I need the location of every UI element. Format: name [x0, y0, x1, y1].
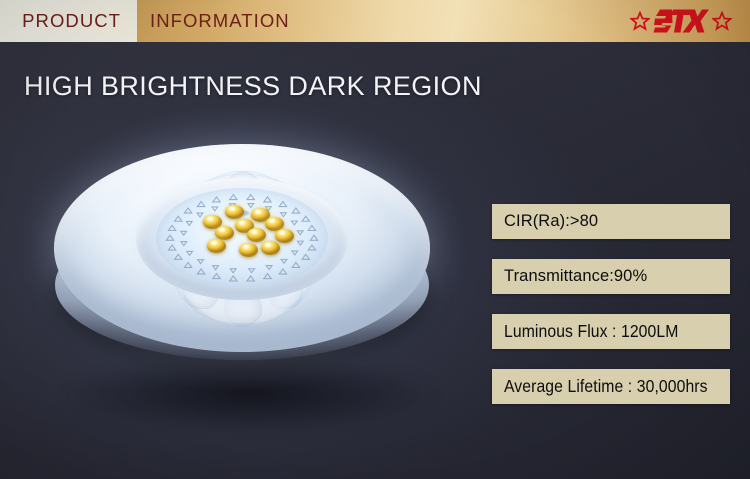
spec-item-average-lifetime[interactable]: Average Lifetime : 30,000hrs [492, 369, 730, 404]
ring-triangle [175, 254, 182, 259]
ring-triangle [308, 245, 315, 250]
stx-wordmark [652, 8, 710, 34]
spec-label: Transmittance:90% [504, 267, 647, 286]
ring-triangle [197, 269, 204, 274]
spec-label: Average Lifetime : 30,000hrs [504, 376, 708, 397]
led-bead [239, 243, 258, 257]
led-bead [247, 228, 266, 242]
ring-triangle [197, 213, 203, 217]
spec-item-luminous-flux[interactable]: Luminous Flux : 1200LM [492, 314, 730, 349]
led-bead [275, 229, 294, 243]
ring-triangle [230, 195, 237, 200]
product-information-slide: PRODUCT INFORMATION [0, 0, 750, 479]
header-left-panel: PRODUCT [0, 0, 137, 42]
header-kicker: PRODUCT [22, 10, 121, 32]
ring-triangle [212, 207, 218, 211]
ring-triangle [264, 274, 271, 279]
ring-triangle [184, 262, 191, 267]
lamp-led-disc [156, 188, 328, 288]
ring-triangle [168, 225, 175, 230]
ring-triangle [187, 251, 193, 255]
spec-label: Luminous Flux : 1200LM [504, 321, 678, 342]
ring-triangle [186, 221, 192, 225]
page-title: HIGH BRIGHTNESS DARK REGION [24, 71, 482, 102]
header-bar: PRODUCT INFORMATION [0, 0, 750, 42]
ring-triangle [302, 216, 309, 221]
ring-triangle [247, 276, 254, 281]
ring-triangle [198, 260, 204, 264]
header-right-panel: INFORMATION [137, 0, 750, 42]
spec-item-cri[interactable]: CIR(Ra):>80 [492, 204, 730, 239]
ring-triangle [213, 266, 219, 270]
decorative-triangle-ring [156, 188, 328, 288]
specification-list: CIR(Ra):>80 Transmittance:90% Luminous F… [492, 204, 730, 404]
ring-triangle [230, 276, 237, 281]
ring-triangle [181, 231, 187, 235]
product-image [40, 118, 450, 418]
ring-triangle [175, 216, 182, 221]
ring-triangle [181, 242, 187, 246]
ring-triangle [166, 235, 173, 240]
ring-triangle [281, 259, 287, 263]
product-shadow [60, 354, 440, 434]
ring-triangle [281, 213, 287, 217]
ring-triangle [213, 197, 220, 202]
ring-triangle [297, 231, 303, 235]
ring-triangle [292, 251, 298, 255]
ring-triangle [168, 245, 175, 250]
ring-triangle [266, 265, 272, 269]
spec-label: CIR(Ra):>80 [504, 212, 598, 231]
ring-triangle [230, 269, 236, 273]
star-outline-icon [630, 11, 650, 31]
ring-triangle [292, 208, 299, 213]
star-outline-icon [712, 11, 732, 31]
ring-triangle [297, 241, 303, 245]
ring-triangle [213, 274, 220, 279]
stx-logo[interactable] [630, 6, 732, 36]
ring-triangle [310, 235, 317, 240]
header-title: INFORMATION [150, 10, 290, 32]
ring-triangle [197, 201, 204, 206]
ring-triangle [248, 204, 254, 208]
led-bead [207, 239, 226, 253]
ring-triangle [249, 269, 255, 273]
ring-triangle [291, 221, 297, 225]
ring-triangle [247, 195, 254, 200]
led-bead [215, 226, 234, 240]
ring-triangle [279, 201, 286, 206]
spec-item-transmittance[interactable]: Transmittance:90% [492, 259, 730, 294]
ring-triangle [184, 208, 191, 213]
ring-triangle [279, 269, 286, 274]
led-bead [225, 205, 244, 219]
ring-triangle [292, 262, 299, 267]
led-bead [261, 241, 280, 255]
ring-triangle [302, 254, 309, 259]
ring-triangle [264, 197, 271, 202]
ring-triangle [308, 225, 315, 230]
